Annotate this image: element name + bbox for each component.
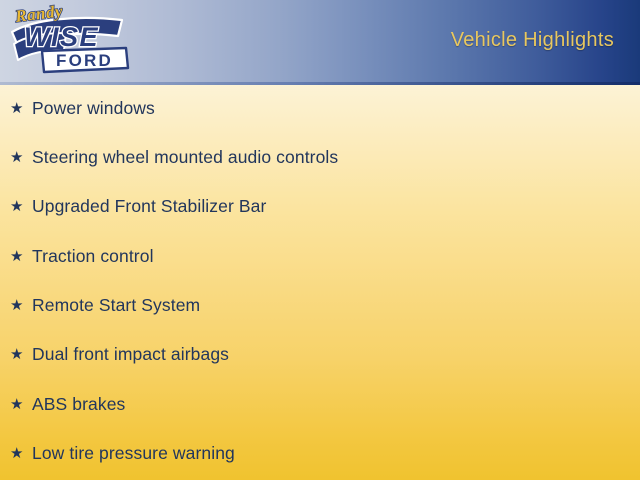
list-item-label: Low tire pressure warning bbox=[32, 443, 235, 464]
list-item: ★ Steering wheel mounted audio controls bbox=[8, 144, 338, 170]
list-item: ★ Traction control bbox=[8, 243, 154, 269]
list-item-label: Traction control bbox=[32, 246, 154, 267]
dealer-logo[interactable]: WISE Randy FORD bbox=[4, 2, 136, 80]
page-header: WISE Randy FORD Vehicle Highlights bbox=[0, 0, 640, 85]
logo-banner-word: FORD bbox=[56, 51, 113, 70]
star-icon: ★ bbox=[8, 446, 32, 461]
logo-main-word: WISE bbox=[24, 22, 99, 52]
list-item-label: Upgraded Front Stabilizer Bar bbox=[32, 196, 266, 217]
star-icon: ★ bbox=[8, 298, 32, 313]
list-item: ★ Low tire pressure warning bbox=[8, 440, 235, 466]
star-icon: ★ bbox=[8, 397, 32, 412]
list-item-label: Steering wheel mounted audio controls bbox=[32, 147, 338, 168]
list-item-label: Power windows bbox=[32, 98, 155, 119]
list-item-label: Remote Start System bbox=[32, 295, 200, 316]
star-icon: ★ bbox=[8, 150, 32, 165]
list-item-label: Dual front impact airbags bbox=[32, 344, 229, 365]
page-title: Vehicle Highlights bbox=[451, 29, 614, 52]
list-item: ★ Remote Start System bbox=[8, 292, 200, 318]
list-item-label: ABS brakes bbox=[32, 394, 125, 415]
vehicle-highlights-page: WISE Randy FORD Vehicle Highlights ★ Pow… bbox=[0, 0, 640, 480]
star-icon: ★ bbox=[8, 101, 32, 116]
list-item: ★ Upgraded Front Stabilizer Bar bbox=[8, 193, 266, 219]
vehicle-highlights-list: ★ Power windows ★ Steering wheel mounted… bbox=[0, 85, 640, 480]
list-item: ★ ABS brakes bbox=[8, 391, 125, 417]
star-icon: ★ bbox=[8, 249, 32, 264]
list-item: ★ Power windows bbox=[8, 95, 155, 121]
star-icon: ★ bbox=[8, 347, 32, 362]
star-icon: ★ bbox=[8, 199, 32, 214]
list-item: ★ Dual front impact airbags bbox=[8, 341, 229, 367]
